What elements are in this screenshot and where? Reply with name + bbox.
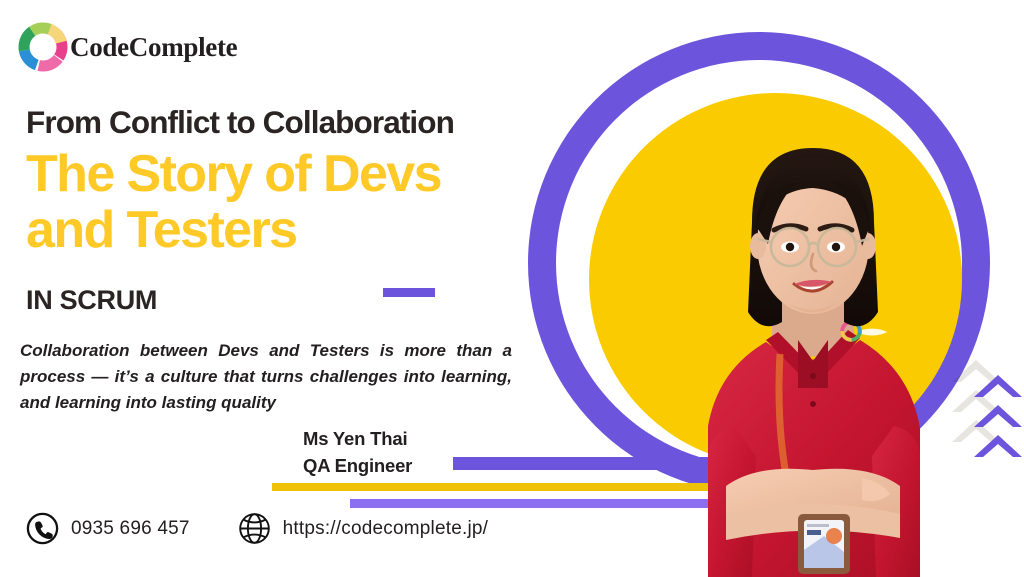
contact-website[interactable]: https://codecomplete.jp/ (238, 512, 488, 545)
speaker-role: QA Engineer (303, 453, 412, 480)
chevron-up-icon (972, 403, 1024, 429)
hero-blurb: Collaboration between Devs and Testers i… (20, 338, 512, 416)
hero-kicker: From Conflict to Collaboration (26, 104, 536, 140)
chevron-up-icon (972, 373, 1024, 399)
contact-phone[interactable]: 0935 696 457 (26, 512, 190, 545)
phone-icon (26, 512, 59, 545)
codecomplete-ring-logo-icon (14, 18, 72, 76)
brand-logo[interactable]: CodeComplete (14, 18, 237, 76)
globe-icon (238, 512, 271, 545)
hero-headline: The Story of Devs and Testers (26, 146, 526, 258)
hero-subkicker: IN SCRUM (26, 285, 536, 316)
chevron-group (972, 373, 1024, 483)
phone-number: 0935 696 457 (71, 518, 190, 540)
speaker-name: Ms Yen Thai (303, 426, 412, 453)
speaker-photo (648, 126, 978, 577)
website-url: https://codecomplete.jp/ (283, 518, 488, 540)
brand-logo-text: CodeComplete (70, 32, 237, 63)
purple-dash-accent (383, 288, 435, 297)
contact-footer: 0935 696 457 https://codecomplete.jp/ (26, 512, 488, 545)
speaker-credit: Ms Yen Thai QA Engineer (303, 426, 412, 480)
chevron-up-icon (972, 433, 1024, 459)
hero-copy: From Conflict to Collaboration The Story… (26, 104, 536, 316)
webinar-banner: CodeComplete From Conflict to Collaborat… (0, 0, 1024, 577)
